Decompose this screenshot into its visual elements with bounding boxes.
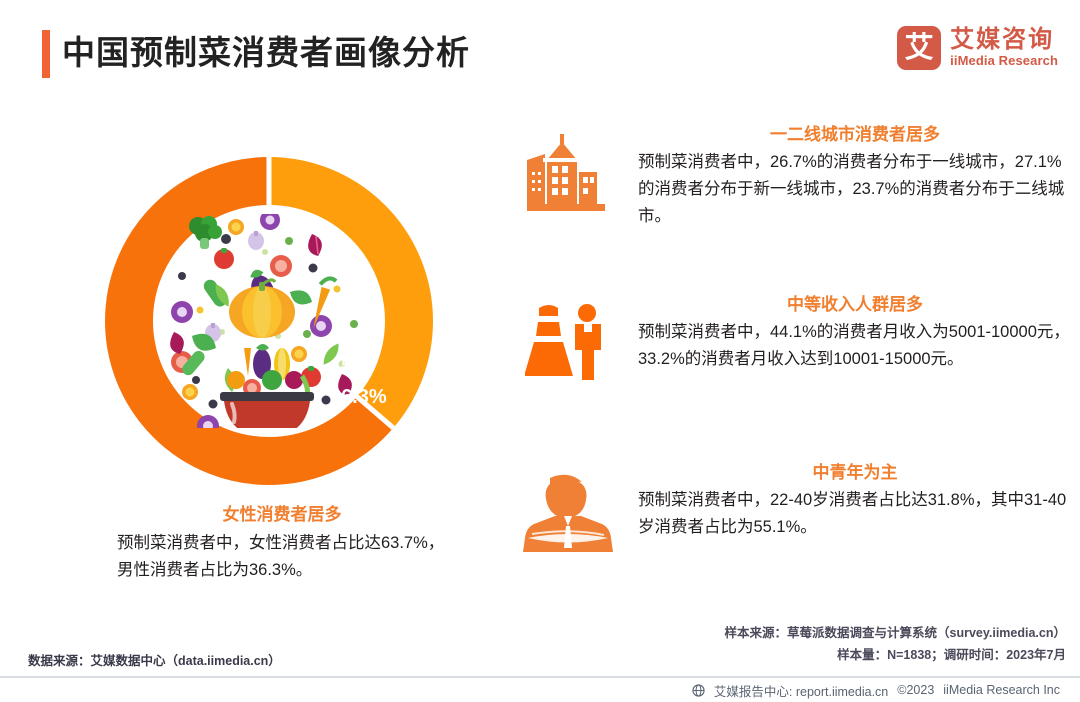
section-income-text: 中等收入人群居多 预制菜消费者中，44.1%的消费者月收入为5001-10000… [638,292,1072,384]
data-source-note: 数据来源：艾媒数据中心（data.iimedia.cn） [28,650,281,669]
globe-icon [692,684,705,697]
footer-copyright: ©2023 [897,683,934,697]
section-income: 中等收入人群居多 预制菜消费者中，44.1%的消费者月收入为5001-10000… [512,292,1072,384]
businessman-icon [522,472,614,552]
section-city-icon-wrap [512,122,624,230]
logo-name-en: iiMedia Research [950,53,1058,69]
gender-donut-chart: 男 36.3% 女 63.7% [94,146,444,496]
infographic-page: 中国预制菜消费者画像分析 艾 艾媒咨询 iiMedia Research [0,0,1080,702]
page-footer: 艾媒报告中心: report.iimedia.cn ©2023 iiMedia … [0,678,1080,702]
man-woman-pair-icon [525,304,611,384]
sample-size: 样本量：N=1838；调研时间：2023年7月 [646,644,1066,666]
sample-source: 样本来源：草莓派数据调查与计算系统（survey.iimedia.cn） [646,622,1066,644]
donut-gap-top-rect [267,157,272,205]
section-city-tier: 一二线城市消费者居多 预制菜消费者中，26.7%的消费者分布于一线城市，27.1… [512,122,1072,230]
section-age-icon-wrap [512,460,624,552]
donut-label-male-name: 男 [340,352,358,378]
page-title: 中国预制菜消费者画像分析 [62,28,470,78]
section-age-text: 中青年为主 预制菜消费者中，22-40岁消费者占比达31.8%，其中31-40岁… [638,460,1072,552]
section-city-title: 一二线城市消费者居多 [638,122,1072,148]
section-income-icon-wrap [512,292,624,384]
section-age: 中青年为主 预制菜消费者中，22-40岁消费者占比达31.8%，其中31-40岁… [512,460,1072,552]
section-city-body: 预制菜消费者中，26.7%的消费者分布于一线城市，27.1%的消费者分布于新一线… [638,149,1072,230]
page-header: 中国预制菜消费者画像分析 艾 艾媒咨询 iiMedia Research [0,0,1080,100]
gender-caption-title: 女性消费者居多 [117,502,447,528]
city-buildings-icon [525,134,611,214]
donut-label-male-value: 36.3% [330,386,387,409]
donut-label-female-name: 女 [116,443,134,469]
footer-report-center[interactable]: 艾媒报告中心: report.iimedia.cn [714,681,888,700]
section-age-title: 中青年为主 [638,460,1072,486]
section-age-body: 预制菜消费者中，22-40岁消费者占比达31.8%，其中31-40岁消费者占比为… [638,487,1072,541]
logo-text: 艾媒咨询 iiMedia Research [950,27,1058,69]
section-income-body: 预制菜消费者中，44.1%的消费者月收入为5001-10000元，33.2%的消… [638,319,1072,373]
gender-caption-body: 预制菜消费者中，女性消费者占比达63.7%，男性消费者占比为36.3%。 [117,530,447,584]
gender-caption-block: 女性消费者居多 预制菜消费者中，女性消费者占比达63.7%，男性消费者占比为36… [117,502,447,584]
section-income-title: 中等收入人群居多 [638,292,1072,318]
footer-company: iiMedia Research Inc [943,683,1060,697]
title-accent-bar [42,30,50,78]
section-city-text: 一二线城市消费者居多 预制菜消费者中，26.7%的消费者分布于一线城市，27.1… [638,122,1072,230]
logo-name-cn: 艾媒咨询 [950,27,1058,53]
logo-mark-icon: 艾 [897,26,941,70]
sample-notes: 样本来源：草莓派数据调查与计算系统（survey.iimedia.cn） 样本量… [646,622,1066,666]
brand-logo: 艾 艾媒咨询 iiMedia Research [897,26,1058,70]
